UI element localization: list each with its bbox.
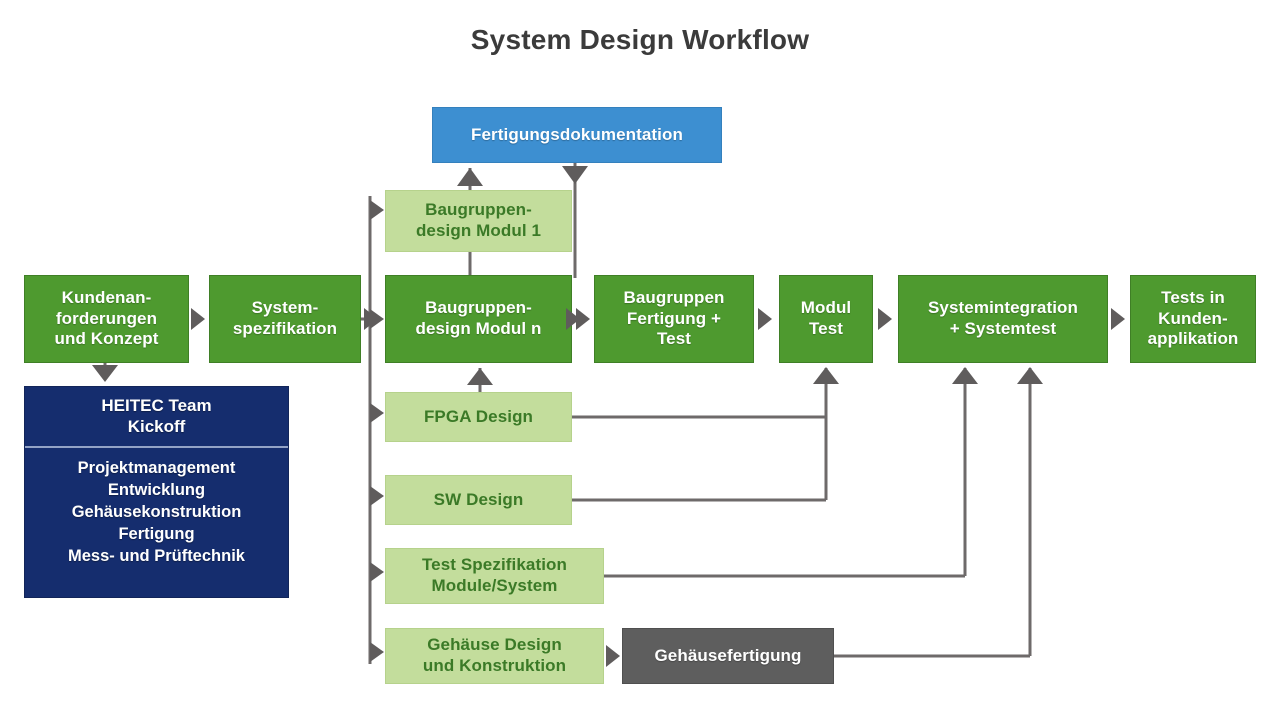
arrow-right-icon (1111, 308, 1125, 330)
node-kundenanforderungen[interactable]: Kundenan- forderungen und Konzept (24, 275, 189, 363)
arrow-right-icon (370, 309, 384, 329)
arrow-right-icon (370, 403, 384, 423)
arrow-right-icon (878, 308, 892, 330)
node-sw-design[interactable]: SW Design (385, 475, 572, 525)
node-test-spezifikation[interactable]: Test Spezifikation Module/System (385, 548, 604, 604)
node-modul-test[interactable]: Modul Test (779, 275, 873, 363)
workflow-diagram: System Design Workflow (0, 0, 1280, 719)
arrow-right-icon (370, 642, 384, 662)
arrow-up-icon (813, 367, 839, 384)
node-heitec-team[interactable]: HEITEC Team Kickoff Projektmanagement En… (24, 386, 289, 598)
arrow-right-icon (370, 486, 384, 506)
arrow-right-icon (370, 562, 384, 582)
arrow-right-icon (370, 200, 384, 220)
arrow-up-icon (1017, 367, 1043, 384)
node-systemintegration-systemtest[interactable]: Systemintegration + Systemtest (898, 275, 1108, 363)
node-fpga-design[interactable]: FPGA Design (385, 392, 572, 442)
node-fertigungsdokumentation[interactable]: Fertigungsdokumentation (432, 107, 722, 163)
page-title: System Design Workflow (0, 24, 1280, 56)
arrow-up-icon (952, 367, 978, 384)
arrow-right-icon (191, 308, 205, 330)
arrow-up-icon (457, 168, 483, 186)
arrow-up-icon (467, 368, 493, 385)
node-baugruppen-fertigung-test[interactable]: Baugruppen Fertigung + Test (594, 275, 754, 363)
arrow-down-icon (562, 166, 588, 184)
arrow-down-icon (92, 365, 118, 382)
node-tests-in-kundenapplikation[interactable]: Tests in Kunden- applikation (1130, 275, 1256, 363)
node-baugruppendesign-modul-1[interactable]: Baugruppen- design Modul 1 (385, 190, 572, 252)
arrow-right-icon (566, 308, 580, 330)
node-gehaeuse-design[interactable]: Gehäuse Design und Konstruktion (385, 628, 604, 684)
node-systemspezifikation[interactable]: System- spezifikation (209, 275, 361, 363)
heitec-team-header: HEITEC Team Kickoff (25, 387, 288, 448)
heitec-team-disciplines: Projektmanagement Entwicklung Gehäusekon… (25, 448, 288, 577)
arrow-right-icon (606, 645, 620, 667)
node-gehaeusefertigung[interactable]: Gehäusefertigung (622, 628, 834, 684)
arrow-right-icon (758, 308, 772, 330)
node-baugruppendesign-modul-n[interactable]: Baugruppen- design Modul n (385, 275, 572, 363)
